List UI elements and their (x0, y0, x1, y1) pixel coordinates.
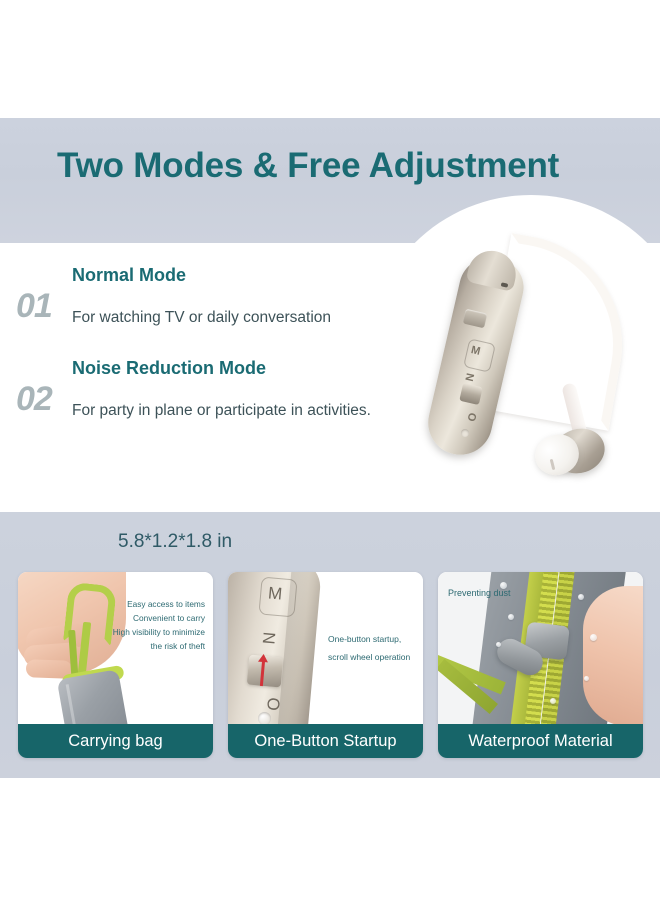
mode-list: 01 Normal Mode For watching TV or daily … (0, 243, 420, 512)
overlay-line: Preventing dust (448, 586, 511, 600)
mode-number: 02 (16, 380, 52, 419)
feature-panels: Easy access to items Convenient to carry… (18, 572, 643, 758)
mode-title: Normal Mode (72, 265, 186, 286)
dimension-label: 5.8*1.2*1.8 in (118, 531, 232, 553)
overlay-line: scroll wheel operation (328, 650, 410, 664)
overlay-line: the risk of theft (151, 640, 205, 654)
one-button-startup-photo: M N O One-button startup, scroll wheel o… (228, 572, 423, 724)
mode-description: For watching TV or daily conversation (72, 299, 412, 337)
feature-card-carrying-bag[interactable]: Easy access to items Convenient to carry… (18, 572, 213, 758)
waterproof-material-photo: Preventing dust (438, 572, 643, 724)
water-droplet (496, 642, 501, 647)
feature-caption: One-Button Startup (228, 724, 423, 758)
feature-card-one-button-startup[interactable]: M N O One-button startup, scroll wheel o… (228, 572, 423, 758)
indicator-led (258, 712, 271, 724)
mode-number: 01 (16, 287, 52, 326)
page-title: Two Modes & Free Adjustment (57, 146, 559, 186)
mode-title: Noise Reduction Mode (72, 358, 266, 379)
indicator-led (461, 429, 469, 437)
thumb-shape (583, 586, 643, 724)
water-droplet (508, 614, 514, 620)
feature-caption: Waterproof Material (438, 724, 643, 758)
carrying-bag-photo: Easy access to items Convenient to carry… (18, 572, 213, 724)
device-marking-m: M (267, 583, 283, 604)
overlay-line: One-button startup, (328, 632, 401, 646)
overlay-line: High visibility to minimize (113, 626, 205, 640)
water-droplet (578, 594, 584, 600)
feature-card-waterproof-material[interactable]: Preventing dust Waterproof Material (438, 572, 643, 758)
overlay-line: Convenient to carry (133, 612, 205, 626)
water-droplet (584, 676, 589, 681)
infographic-stage: Two Modes & Free Adjustment 01 Normal Mo… (0, 0, 660, 900)
water-droplet (550, 698, 556, 704)
device-marking-n: N (258, 631, 279, 645)
mode-description: For party in plane or participate in act… (72, 392, 412, 430)
overlay-line: Easy access to items (127, 598, 205, 612)
feature-caption: Carrying bag (18, 724, 213, 758)
device-marking-o: O (464, 411, 478, 422)
device-marking-o: O (262, 697, 283, 712)
water-droplet (590, 634, 597, 641)
hearing-aid-product-image: M N O (435, 233, 635, 498)
